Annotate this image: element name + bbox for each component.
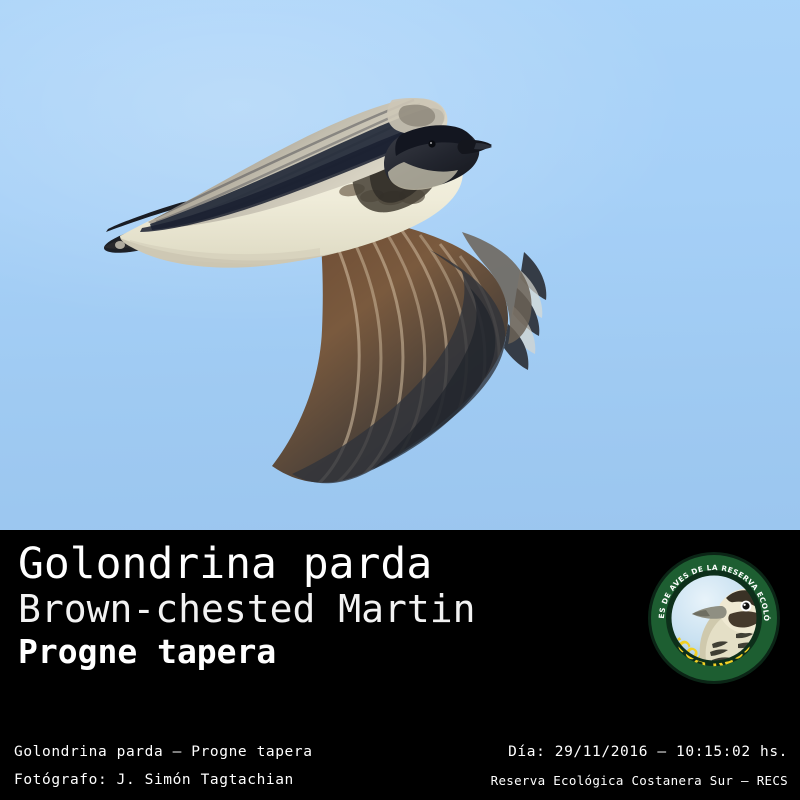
brown-chested-martin-illustration — [0, 0, 800, 530]
scientific-name: Progne tapera — [18, 631, 476, 673]
footer-species-line: Golondrina parda — Progne tapera — [14, 744, 313, 760]
bird-photograph — [0, 0, 800, 530]
footer-photographer-line: Fotógrafo: J. Simón Tagtachian — [14, 772, 294, 788]
eye — [428, 140, 435, 147]
coa-recs-logo[interactable]: CLUB DE OBSERVADORES DE AVES DE LA RESER… — [646, 548, 782, 686]
footer-date-line: Día: 29/11/2016 — 10:15:02 hs. — [508, 744, 788, 760]
photo-card: Golondrina parda Brown-chested Martin Pr… — [0, 0, 800, 800]
species-title-block: Golondrina parda Brown-chested Martin Pr… — [18, 542, 476, 673]
common-name: Golondrina parda — [18, 542, 476, 587]
english-name: Brown-chested Martin — [18, 587, 476, 631]
footer-location-line: Reserva Ecológica Costanera Sur — RECS — [491, 773, 788, 788]
